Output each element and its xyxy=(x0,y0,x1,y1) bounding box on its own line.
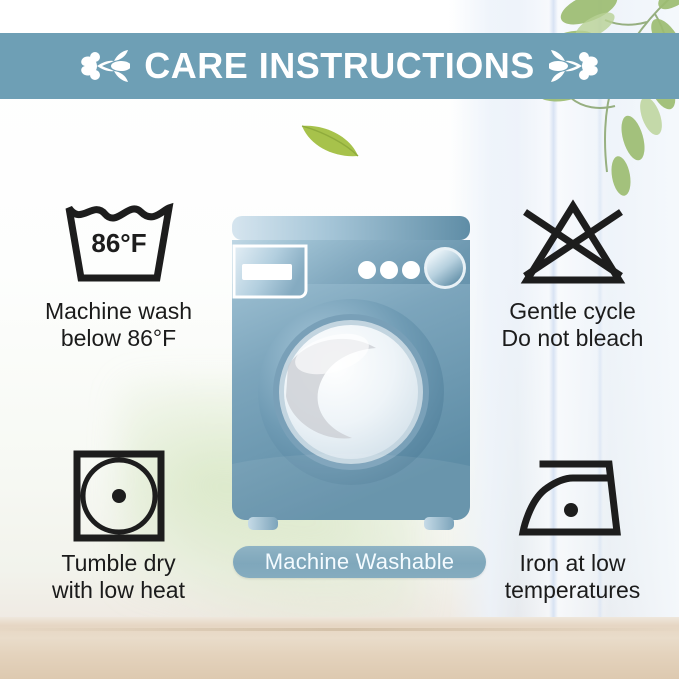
care-symbol-iron: Iron at low temperatures xyxy=(470,448,675,603)
care-symbol-machine-wash: 86°F Machine wash below 86°F xyxy=(16,196,221,351)
header-band: CARE INSTRUCTIONS xyxy=(0,33,679,99)
washing-machine-illustration xyxy=(228,214,474,530)
fleur-de-lis-icon xyxy=(76,43,130,89)
washer-indicator-light xyxy=(380,261,398,279)
machine-washable-badge-label: Machine Washable xyxy=(265,551,454,573)
background-wooden-table xyxy=(0,617,679,679)
fleur-de-lis-icon xyxy=(549,43,603,89)
page-title: CARE INSTRUCTIONS xyxy=(144,48,535,84)
washer-indicator-light xyxy=(402,261,420,279)
care-symbol-tumble-dry: Tumble dry with low heat xyxy=(16,448,221,603)
machine-washable-badge: Machine Washable xyxy=(233,546,486,578)
washer-body-lower-sheen xyxy=(232,454,470,520)
care-symbol-caption: Iron at low temperatures xyxy=(505,550,641,603)
washer-drawer-slot xyxy=(242,264,292,280)
washer-indicator-light xyxy=(358,261,376,279)
care-symbol-caption: Gentle cycle Do not bleach xyxy=(502,298,644,351)
care-symbol-no-bleach: Gentle cycle Do not bleach xyxy=(470,196,675,351)
tumble-dry-square-icon xyxy=(69,448,169,544)
wash-tub-icon: 86°F xyxy=(59,196,179,292)
washer-program-knob xyxy=(427,250,463,286)
care-symbol-caption: Machine wash below 86°F xyxy=(45,298,192,351)
wash-temperature-value: 86°F xyxy=(91,228,146,258)
care-instructions-graphic: CARE INSTRUCTIONS 86°F Machine wash belo… xyxy=(0,0,679,679)
washer-foot xyxy=(424,517,454,530)
washer-foot xyxy=(248,517,278,530)
iron-icon xyxy=(513,448,633,544)
washer-top-lid xyxy=(232,216,470,240)
background-table-edge-line xyxy=(0,628,679,631)
triangle-crossed-no-bleach-icon xyxy=(513,196,633,292)
care-symbol-caption: Tumble dry with low heat xyxy=(52,550,185,603)
